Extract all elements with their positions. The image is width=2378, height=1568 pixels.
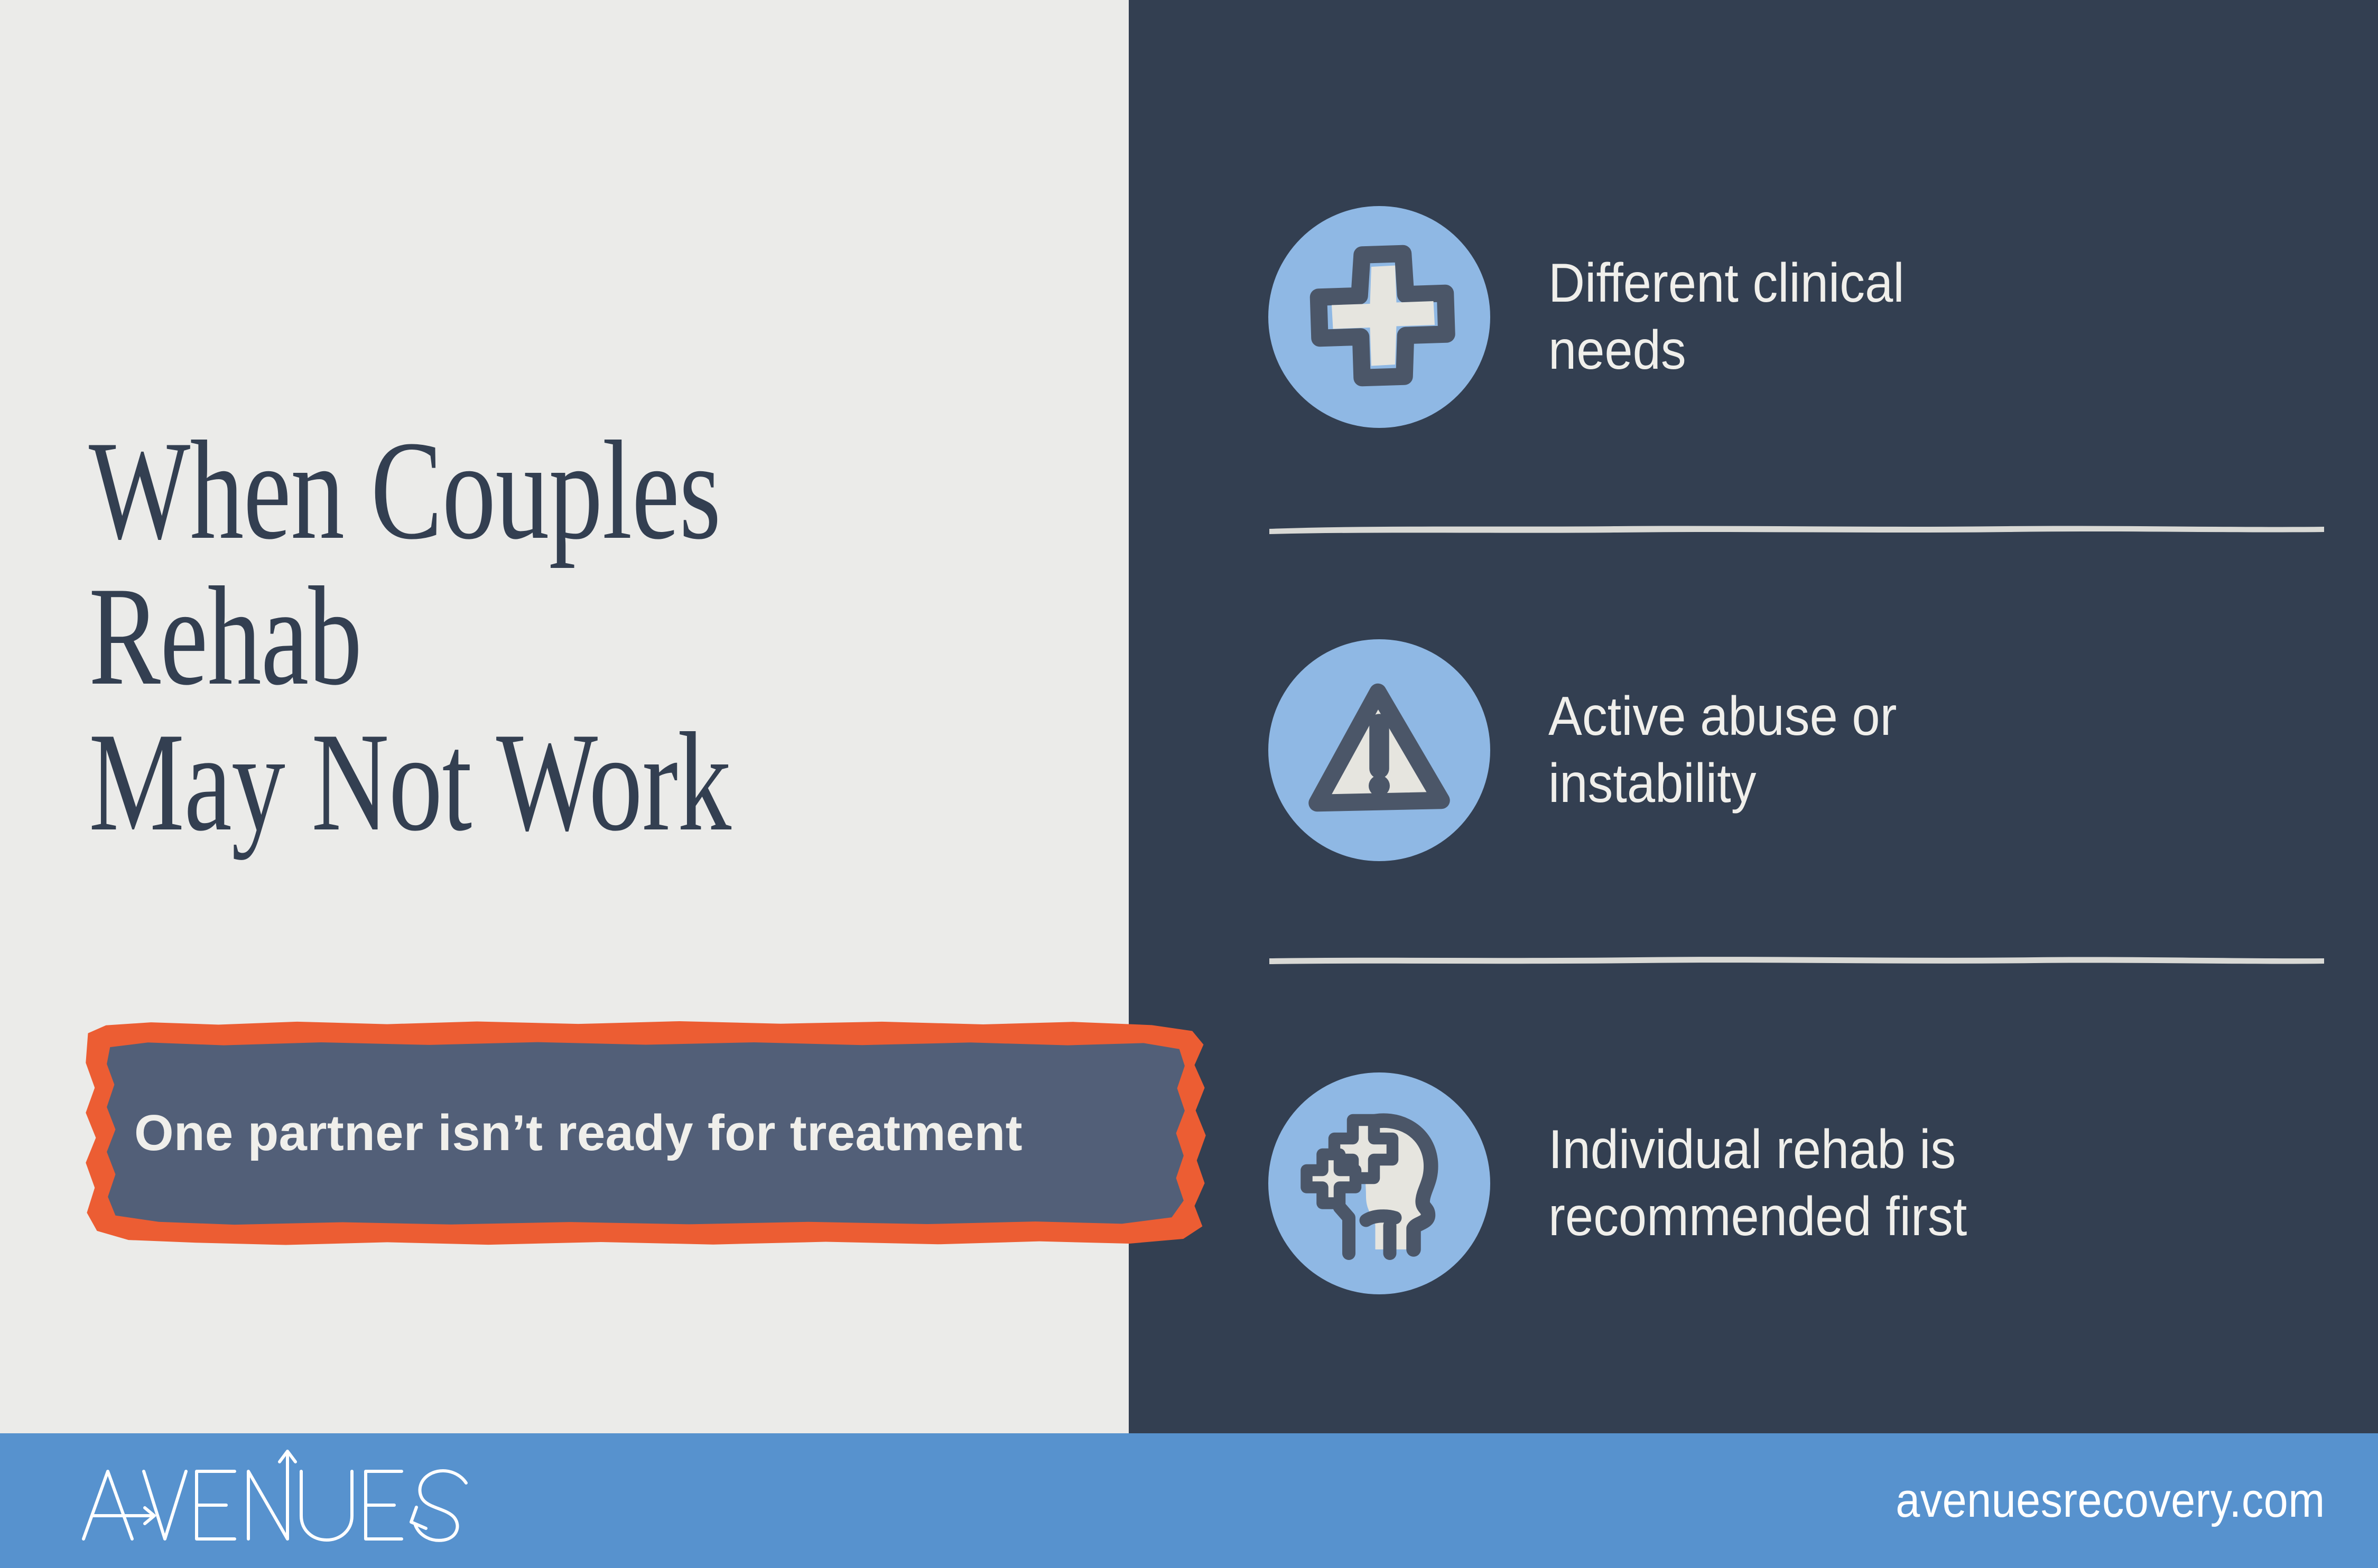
- page-title: When Couples Rehab May Not Work: [89, 417, 852, 855]
- callout-label: One partner isn’t ready for treatment: [134, 1104, 1023, 1162]
- divider-rule-1: [1268, 520, 2325, 536]
- list-item-label: Individual rehab is recommended first: [1548, 1116, 1967, 1250]
- footer-bar: avenuesrecovery.com: [0, 1433, 2378, 1568]
- highlighted-callout: One partner isn’t ready for treatment: [83, 1020, 1208, 1247]
- infographic-canvas: When Couples Rehab May Not Work One part…: [0, 0, 2378, 1568]
- list-item-label: Different clinical needs: [1548, 250, 1905, 384]
- list-item: Different clinical needs: [1268, 206, 2325, 428]
- headline-line-2: Rehab: [89, 563, 852, 709]
- headline-line-3: May Not Work: [89, 709, 852, 855]
- divider-rule-2: [1268, 951, 2325, 967]
- website-url[interactable]: avenuesrecovery.com: [1896, 1473, 2325, 1528]
- avenues-logo[interactable]: [74, 1448, 486, 1554]
- medical-cross-icon: [1268, 206, 1490, 428]
- list-item: Individual rehab is recommended first: [1268, 1072, 2325, 1294]
- head-profile-with-crosses-icon: [1268, 1072, 1490, 1294]
- list-item: Active abuse or instability: [1268, 639, 2325, 861]
- list-item-label: Active abuse or instability: [1548, 683, 1897, 817]
- warning-triangle-icon: [1268, 639, 1490, 861]
- headline-line-1: When Couples: [89, 417, 852, 563]
